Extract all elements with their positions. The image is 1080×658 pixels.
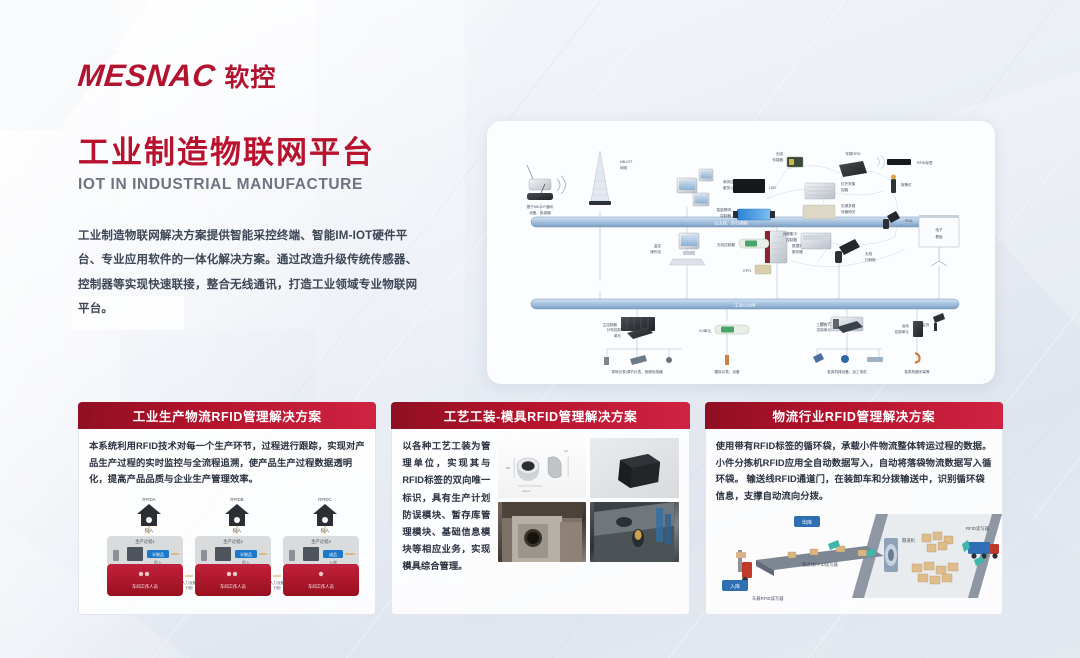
- card-tooling-mold[interactable]: 工艺工装-模具RFID管理解决方案 以各种工艺工装为管理单位，实现其与RFID标…: [391, 402, 689, 615]
- svg-text:智能照明: 智能照明: [717, 207, 732, 212]
- svg-text:人力及配: 人力及配: [182, 580, 197, 585]
- svg-text:网络: 网络: [620, 165, 628, 170]
- svg-text:Ø8: Ø8: [506, 466, 510, 470]
- photo-grid: Ø812mmH6: [498, 438, 678, 576]
- svg-text:控制单元: 控制单元: [817, 327, 832, 332]
- svg-text:半制品: 半制品: [240, 551, 252, 557]
- svg-text:单元: 单元: [614, 333, 622, 338]
- svg-text:传感器: 传感器: [772, 157, 783, 162]
- node-wireless-scanner: 无线 扫码枪: [835, 239, 876, 263]
- brand-name-en: MESNAC: [76, 58, 217, 94]
- card-logistics-industry[interactable]: 物流行业RFID管理解决方案 使用带有RFID标签的循环袋，承载小件物流整体转运…: [705, 402, 1003, 615]
- node-io-unit: I/O单元: [699, 325, 749, 334]
- svg-text:半制品: 半制品: [152, 551, 164, 557]
- page-subtitle: IOT IN INDUSTRIAL MANUFACTURE: [78, 176, 438, 194]
- svg-text:I/O单元: I/O单元: [699, 328, 711, 333]
- svg-text:各类机械设备、加工电机: 各类机械设备、加工电机: [827, 369, 867, 374]
- svg-text:投入: 投入: [154, 559, 162, 565]
- node-rfid-tag: RFID标签: [877, 155, 933, 169]
- node-nbiot-network: NB-IOT 网络: [589, 151, 633, 205]
- svg-text:报警灯: 报警灯: [901, 182, 912, 187]
- svg-text:现场仪表/调节仪表、音频传感器: 现场仪表/调节仪表、音频传感器: [611, 369, 663, 374]
- svg-text:基于NB-IOT通讯: 基于NB-IOT通讯: [527, 204, 554, 209]
- svg-text:运动: 运动: [902, 323, 910, 328]
- svg-text:车载RFID: 车载RFID: [845, 151, 861, 156]
- card-description: 本系统利用RFID技术对每一个生产环节，过程进行跟踪，实现对产品生产过程的实时监…: [89, 438, 365, 488]
- node-e-board: 电子 看板: [919, 215, 959, 266]
- metal-tag-dimension-photo: Ø812mmH6: [498, 438, 586, 498]
- card-header: 工业生产物流RFID管理解决方案: [78, 402, 376, 429]
- svg-text:无线控制器: 无线控制器: [717, 242, 735, 247]
- logistics-flow-figure: 隧道机: [716, 508, 992, 606]
- svg-text:控制器: 控制器: [786, 237, 797, 242]
- svg-text:服务器: 服务器: [792, 249, 803, 254]
- svg-text:控制器: 控制器: [720, 213, 731, 218]
- card-title: 工业生产物流RFID管理解决方案: [133, 406, 322, 425]
- node-analog-devices: 模拟仪表、设备: [714, 355, 740, 374]
- svg-text:RFID标签: RFID标签: [917, 160, 933, 165]
- card-header: 物流行业RFID管理解决方案: [705, 402, 1003, 429]
- svg-text:车间工作人员: 车间工作人员: [220, 583, 246, 590]
- architecture-diagram: 以太网、办公网络 基于NB-IOT通讯 设备、传感器 NB-IOT 网络: [487, 121, 995, 384]
- node-nbiot-device: 基于NB-IOT通讯 设备、传感器: [527, 165, 566, 215]
- svg-text:车间工作人员: 车间工作人员: [132, 583, 158, 590]
- svg-text:无源多路: 无源多路: [841, 203, 856, 208]
- brand-logo: MESNAC 软控: [78, 58, 438, 94]
- intro-paragraph: 工业制造物联网解决方案提供智能采控终端、智能IM-IOT硬件平台、专业应用软件的…: [78, 224, 418, 322]
- svg-text:生产过程2: 生产过程2: [223, 538, 243, 545]
- card-industrial-logistics[interactable]: 工业生产物流RFID管理解决方案 本系统利用RFID技术对每一个生产环节，过程进…: [78, 402, 376, 615]
- tooling-closeup-photo: [590, 502, 678, 562]
- node-passive-gateway: 无源多路 传输网关: [803, 203, 856, 219]
- node-motion-ctrl-unit: 运动 控制单元: [895, 321, 923, 337]
- card-title: 物流行业RFID管理解决方案: [773, 406, 936, 425]
- svg-text:分配: 分配: [273, 585, 281, 590]
- bus-label-bottom: 工业以太网: [735, 301, 756, 308]
- svg-text:分配: 分配: [185, 585, 193, 590]
- node-monitor-station: 监控 操作站: [650, 233, 705, 265]
- black-rfid-tag-photo: [590, 438, 678, 498]
- node-led: LED: [733, 179, 776, 193]
- svg-text:LED: LED: [769, 186, 776, 190]
- svg-text:车间工作人员: 车间工作人员: [308, 583, 334, 590]
- svg-text:传输网关: 传输网关: [841, 209, 856, 214]
- page-title: 工业制造物联网平台: [78, 134, 438, 173]
- card-body: 本系统利用RFID技术对每一个生产环节，过程进行跟踪，实现对产品生产过程的实时监…: [78, 429, 376, 615]
- svg-text:无线: 无线: [865, 251, 873, 256]
- svg-text:生产过程3: 生产过程3: [311, 538, 331, 545]
- svg-text:主控制器: 主控制器: [603, 322, 618, 327]
- svg-text:嵌入式: 嵌入式: [820, 321, 831, 326]
- node-ir-gather: 红外采集 回路: [805, 181, 856, 199]
- svg-text:成品: 成品: [329, 551, 337, 557]
- node-field-instruments: 现场仪表/调节仪表、音频传感器: [604, 355, 672, 374]
- svg-text:隧道机: 隧道机: [902, 537, 916, 544]
- svg-text:人力及配: 人力及配: [270, 580, 285, 585]
- svg-text:出库: 出库: [802, 519, 812, 526]
- node-wireless-sensor: 无线 传感器: [772, 151, 803, 167]
- card-body: 使用带有RFID标签的循环袋，承载小件物流整体转运过程的数据。小件分拣机RFID…: [705, 429, 1003, 615]
- hero-section: MESNAC 软控 工业制造物联网平台 IOT IN INDUSTRIAL MA…: [78, 58, 438, 321]
- svg-text:无线: 无线: [776, 151, 784, 156]
- bus-label-top: 以太网、办公网络: [714, 219, 748, 226]
- card-header: 工艺工装-模具RFID管理解决方案: [391, 402, 689, 429]
- svg-text:控制单元: 控制单元: [895, 329, 910, 334]
- node-business-app: 商务应用 服务公务: [677, 169, 738, 206]
- node-remote-central-ctrl: 远程集中 控制器: [783, 231, 831, 249]
- svg-text:电子: 电子: [935, 227, 943, 232]
- card-title: 工艺工装-模具RFID管理解决方案: [444, 406, 638, 425]
- svg-text:分布控制: 分布控制: [607, 327, 622, 332]
- svg-text:入库: 入库: [730, 583, 740, 590]
- svg-text:输送线RFID读写器: 输送线RFID读写器: [802, 561, 839, 568]
- production-flow-figure: RFIDARFIDBRFIDC 投入投入投入: [89, 494, 365, 602]
- mold-with-tag-photo: [498, 502, 586, 562]
- svg-text:监控: 监控: [654, 243, 662, 248]
- svg-text:12mm: 12mm: [522, 489, 531, 493]
- svg-text:入库: 入库: [329, 559, 337, 565]
- svg-text:生产过程1: 生产过程1: [135, 538, 155, 545]
- svg-text:操作站: 操作站: [650, 249, 661, 254]
- svg-text:投入: 投入: [242, 559, 250, 565]
- svg-text:扫码枪: 扫码枪: [865, 257, 876, 262]
- node-epo: EPO: [743, 265, 771, 274]
- solution-cards: 工业生产物流RFID管理解决方案 本系统利用RFID技术对每一个生产环节，过程进…: [78, 402, 1003, 615]
- svg-text:RFID读写器: RFID读写器: [966, 525, 990, 532]
- svg-text:红外采集: 红外采集: [841, 181, 856, 186]
- svg-text:车载RFID读写器: 车载RFID读写器: [752, 595, 784, 602]
- svg-text:看板: 看板: [935, 234, 943, 239]
- svg-text:RFIDC: RFIDC: [318, 497, 331, 502]
- svg-text:H6: H6: [564, 449, 568, 453]
- node-machines: 各类机械设备、加工电机: [813, 353, 883, 374]
- svg-text:NB-IOT: NB-IOT: [620, 160, 633, 164]
- svg-text:回路: 回路: [841, 187, 849, 192]
- brand-name-cn: 软控: [224, 58, 276, 94]
- node-indicator-light: 报警灯: [891, 175, 912, 193]
- svg-text:EPO: EPO: [743, 269, 751, 273]
- card-description: 使用带有RFID标签的循环袋，承载小件物流整体转运过程的数据。小件分拣机RFID…: [716, 438, 992, 504]
- svg-text:远程集中: 远程集中: [783, 231, 798, 236]
- node-wireless-ctrl: 无线控制器: [717, 239, 769, 248]
- card-body: 以各种工艺工装为管理单位，实现其与RFID标签的双向唯一标识，具有生产计划防误模…: [391, 429, 689, 615]
- svg-text:RFIDA: RFIDA: [142, 497, 155, 502]
- svg-text:各类机器手臂等: 各类机器手臂等: [904, 369, 930, 374]
- node-vehicle-rfid: 车载RFID: [839, 151, 867, 177]
- svg-text:模拟仪表、设备: 模拟仪表、设备: [714, 369, 740, 374]
- svg-text:PDA: PDA: [905, 219, 913, 223]
- card-description: 以各种工艺工装为管理单位，实现其与RFID标签的双向唯一标识，具有生产计划防误模…: [402, 438, 490, 576]
- svg-text:RFIDB: RFIDB: [230, 497, 243, 502]
- svg-text:设备、传感器: 设备、传感器: [529, 210, 551, 215]
